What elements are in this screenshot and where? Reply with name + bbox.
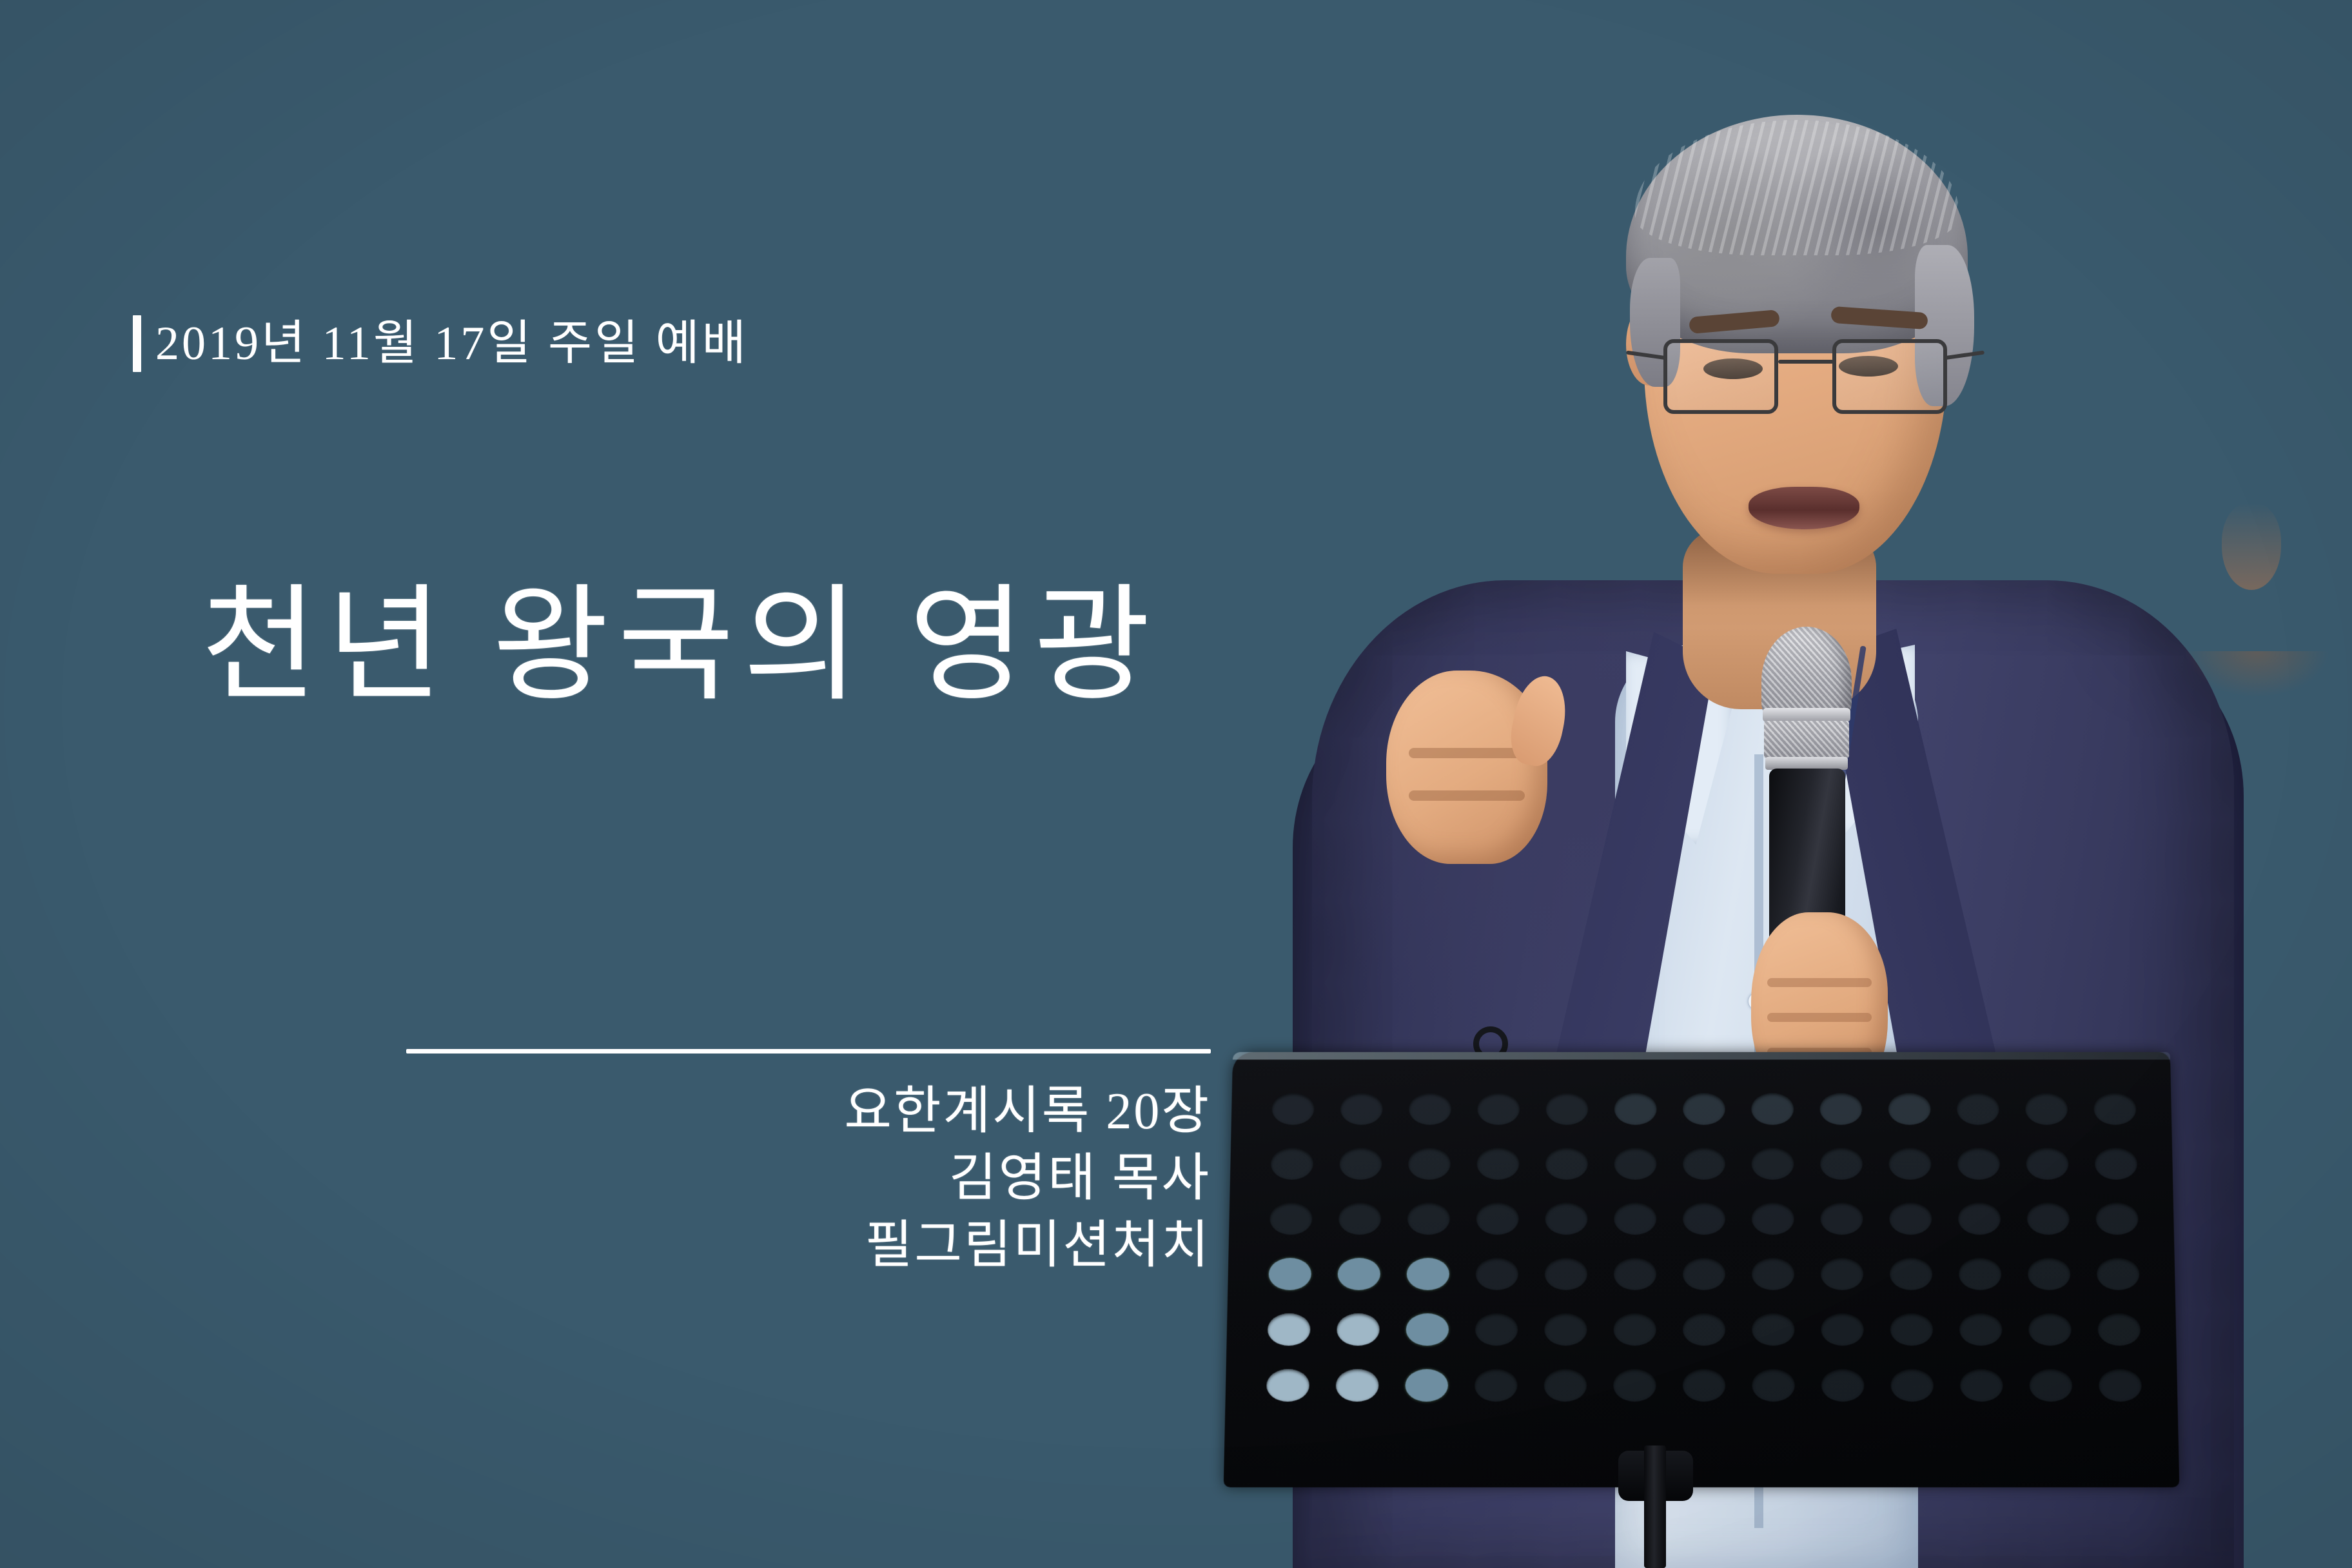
- music-stand-hole: [2094, 1093, 2137, 1125]
- music-stand-hole: [2098, 1313, 2141, 1346]
- music-stand-hole: [1752, 1202, 1794, 1235]
- sermon-meta-block: 요한계시록 20장 김영태 목사 필그림미션처치: [406, 1078, 1211, 1279]
- music-stand-hole: [1751, 1093, 1794, 1125]
- music-stand-hole: [1889, 1202, 1932, 1235]
- music-stand-hole: [1821, 1202, 1863, 1235]
- microphone-lower-mesh: [1764, 721, 1849, 758]
- music-stand-hole: [1338, 1202, 1381, 1235]
- music-stand-hole: [1270, 1148, 1313, 1179]
- music-stand-hole: [1888, 1093, 1931, 1125]
- music-stand-hole: [1406, 1313, 1449, 1346]
- music-stand-hole: [1614, 1093, 1657, 1125]
- music-stand-hole: [1614, 1148, 1656, 1179]
- music-stand-hole: [1613, 1313, 1656, 1346]
- music-stand-hole: [1683, 1148, 1725, 1179]
- music-stand-hole: [1475, 1258, 1518, 1290]
- church-name: 필그림미션처치: [406, 1212, 1211, 1279]
- music-stand-hole: [1268, 1258, 1311, 1290]
- nose: [2222, 503, 2281, 590]
- music-stand-hole: [1891, 1369, 1934, 1402]
- music-stand-hole: [1475, 1313, 1518, 1346]
- music-stand-hole: [1266, 1369, 1309, 1402]
- music-stand-hole: [1476, 1148, 1519, 1179]
- music-stand-top-edge: [1233, 1052, 2170, 1060]
- accent-bar-icon: [133, 315, 141, 372]
- music-stand-hole: [1337, 1313, 1380, 1346]
- music-stand: [1224, 1052, 2180, 1487]
- lens-left: [1663, 339, 1778, 414]
- music-stand-hole: [1752, 1148, 1794, 1179]
- music-stand-hole: [1409, 1093, 1451, 1125]
- microphone-ring: [1763, 708, 1850, 722]
- music-stand-hole: [1890, 1313, 1934, 1346]
- music-stand-hole: [1957, 1093, 1999, 1125]
- knuckle-line: [1767, 978, 1871, 987]
- sermon-title: 천년 왕국의 영광: [201, 580, 1159, 713]
- music-stand-hole: [1821, 1313, 1865, 1346]
- music-stand-hole: [1890, 1258, 1932, 1290]
- music-stand-hole: [1752, 1369, 1795, 1402]
- knuckle-line: [1767, 1013, 1871, 1022]
- lens-right: [1832, 339, 1947, 414]
- music-stand-hole: [1407, 1148, 1450, 1179]
- music-stand-hole: [1267, 1313, 1310, 1346]
- music-stand-hole: [1821, 1258, 1863, 1290]
- speaker-name: 김영태 목사: [406, 1145, 1211, 1212]
- music-stand-hole: [1613, 1369, 1656, 1402]
- music-stand-hole: [1545, 1148, 1588, 1179]
- music-stand-hole: [2030, 1369, 2073, 1402]
- music-stand-hole: [1614, 1258, 1656, 1290]
- music-stand-hole: [1544, 1313, 1587, 1346]
- music-stand-hole: [1960, 1369, 2003, 1402]
- scripture-reference: 요한계시록 20장: [406, 1078, 1211, 1145]
- music-stand-hole: [2027, 1202, 2070, 1235]
- mouth: [1749, 487, 1859, 529]
- music-stand-hole: [2028, 1258, 2071, 1290]
- music-stand-hole: [1889, 1148, 1932, 1179]
- music-stand-hole: [1476, 1202, 1518, 1235]
- music-stand-hole: [1683, 1202, 1725, 1235]
- music-stand-hole: [1545, 1258, 1587, 1290]
- eyeglasses-icon: [1663, 335, 1947, 432]
- music-stand-hole: [2026, 1148, 2069, 1179]
- music-stand-perforations: [1259, 1086, 2150, 1409]
- speaker-photo: [1193, 0, 2352, 1568]
- music-stand-hole: [2028, 1313, 2072, 1346]
- date-row: 2019년 11월 17일 주일 예배: [133, 308, 749, 379]
- music-stand-hole: [1683, 1093, 1725, 1125]
- music-stand-hole: [1683, 1258, 1725, 1290]
- music-stand-hole: [1269, 1202, 1313, 1235]
- divider-rule: [406, 1049, 1211, 1053]
- music-stand-hole: [1545, 1093, 1588, 1125]
- music-stand-hole: [1820, 1148, 1863, 1179]
- microphone-collar: [1765, 757, 1848, 770]
- music-stand-hole: [1337, 1258, 1380, 1290]
- music-stand-hole: [1543, 1369, 1587, 1402]
- music-stand-hole: [1821, 1369, 1865, 1402]
- music-stand-hole: [1545, 1202, 1587, 1235]
- music-stand-hole: [1752, 1313, 1794, 1346]
- music-stand-hole: [2097, 1258, 2140, 1290]
- music-stand-hole: [1820, 1093, 1863, 1125]
- music-stand-hole: [1614, 1202, 1656, 1235]
- music-stand-hole: [2099, 1369, 2142, 1402]
- music-stand-hole: [2096, 1202, 2139, 1235]
- music-stand-hole: [1752, 1258, 1794, 1290]
- music-stand-hole: [2095, 1148, 2138, 1179]
- music-stand-hole: [1477, 1093, 1520, 1125]
- music-stand-hole: [1958, 1202, 2001, 1235]
- service-date-label: 2019년 11월 17일 주일 예배: [155, 320, 749, 367]
- music-stand-hole: [1683, 1313, 1725, 1346]
- music-stand-hole: [1475, 1369, 1518, 1402]
- music-stand-hole: [2025, 1093, 2068, 1125]
- music-stand-hole: [1405, 1369, 1448, 1402]
- music-stand-hole: [1335, 1369, 1378, 1402]
- chin-shadow: [2186, 651, 2327, 696]
- glasses-bridge: [1778, 360, 1834, 364]
- music-stand-hole: [1407, 1202, 1449, 1235]
- music-stand-hole: [1271, 1093, 1314, 1125]
- music-stand-hole: [1683, 1369, 1725, 1402]
- music-stand-hole: [1340, 1093, 1382, 1125]
- music-stand-hole: [1959, 1258, 2002, 1290]
- music-stand-hole: [1406, 1258, 1449, 1290]
- music-stand-pole: [1644, 1445, 1666, 1568]
- music-stand-hole: [1959, 1313, 2003, 1346]
- music-stand-hole: [1339, 1148, 1382, 1179]
- music-stand-hole: [1957, 1148, 2000, 1179]
- sermon-title-slide: 2019년 11월 17일 주일 예배 천년 왕국의 영광 요한계시록 20장 …: [0, 0, 2352, 1568]
